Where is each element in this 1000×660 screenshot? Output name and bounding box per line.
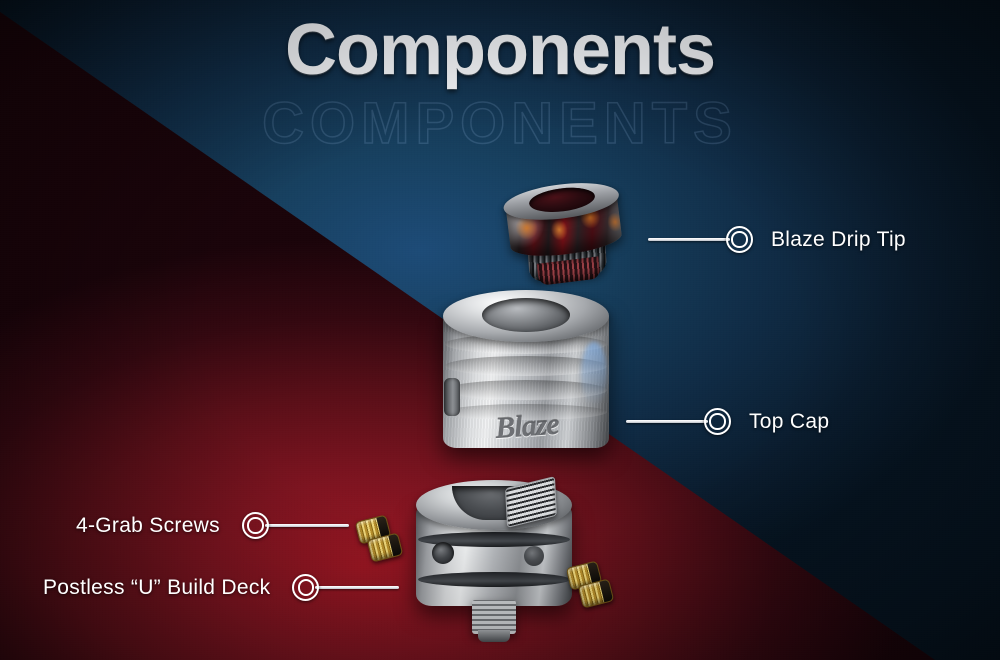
double-ring-marker-icon bbox=[726, 226, 753, 253]
callout-label: Blaze Drip Tip bbox=[771, 228, 906, 252]
leader-line bbox=[315, 586, 399, 589]
top-cap-engraving: Blaze bbox=[474, 406, 580, 447]
build-deck-oring-lower bbox=[418, 572, 570, 587]
build-deck-510-thread bbox=[472, 600, 516, 634]
grub-screws-left bbox=[357, 516, 411, 564]
callout-build-deck[interactable]: Postless “U” Build Deck bbox=[43, 574, 399, 601]
build-deck-airflow-hole-left bbox=[432, 542, 454, 564]
leader-line bbox=[265, 524, 349, 527]
build-deck-airflow-hole-right bbox=[524, 546, 544, 566]
grub-screw-socket bbox=[388, 534, 402, 557]
build-deck-part bbox=[406, 478, 586, 646]
callout-label: Top Cap bbox=[749, 410, 829, 434]
top-cap-bore bbox=[482, 298, 570, 332]
double-ring-marker-icon bbox=[242, 512, 269, 539]
leader-line bbox=[626, 420, 708, 423]
leader-line bbox=[648, 238, 730, 241]
callout-drip-tip[interactable]: Blaze Drip Tip bbox=[648, 226, 906, 253]
top-cap-part: Blaze bbox=[437, 290, 615, 460]
double-ring-marker-icon bbox=[704, 408, 731, 435]
page-title-ghost: COMPONENTS bbox=[0, 95, 1000, 153]
drip-tip-part bbox=[491, 170, 643, 294]
grub-screws-right bbox=[568, 562, 622, 610]
callout-label: 4-Grab Screws bbox=[76, 514, 220, 538]
page-title-group: Components bbox=[0, 14, 1000, 86]
grub-screw-socket bbox=[599, 580, 613, 603]
page-title: Components bbox=[0, 14, 1000, 86]
callout-label: Postless “U” Build Deck bbox=[43, 576, 270, 600]
build-deck-510-pin bbox=[478, 630, 510, 642]
infographic-canvas: Components COMPONENTS Blaze bbox=[0, 0, 1000, 660]
top-cap-airflow-tab bbox=[444, 378, 460, 416]
double-ring-marker-icon bbox=[292, 574, 319, 601]
callout-top-cap[interactable]: Top Cap bbox=[626, 408, 829, 435]
top-cap-blue-reflection bbox=[581, 342, 607, 406]
callout-grab-screws[interactable]: 4-Grab Screws bbox=[76, 512, 349, 539]
